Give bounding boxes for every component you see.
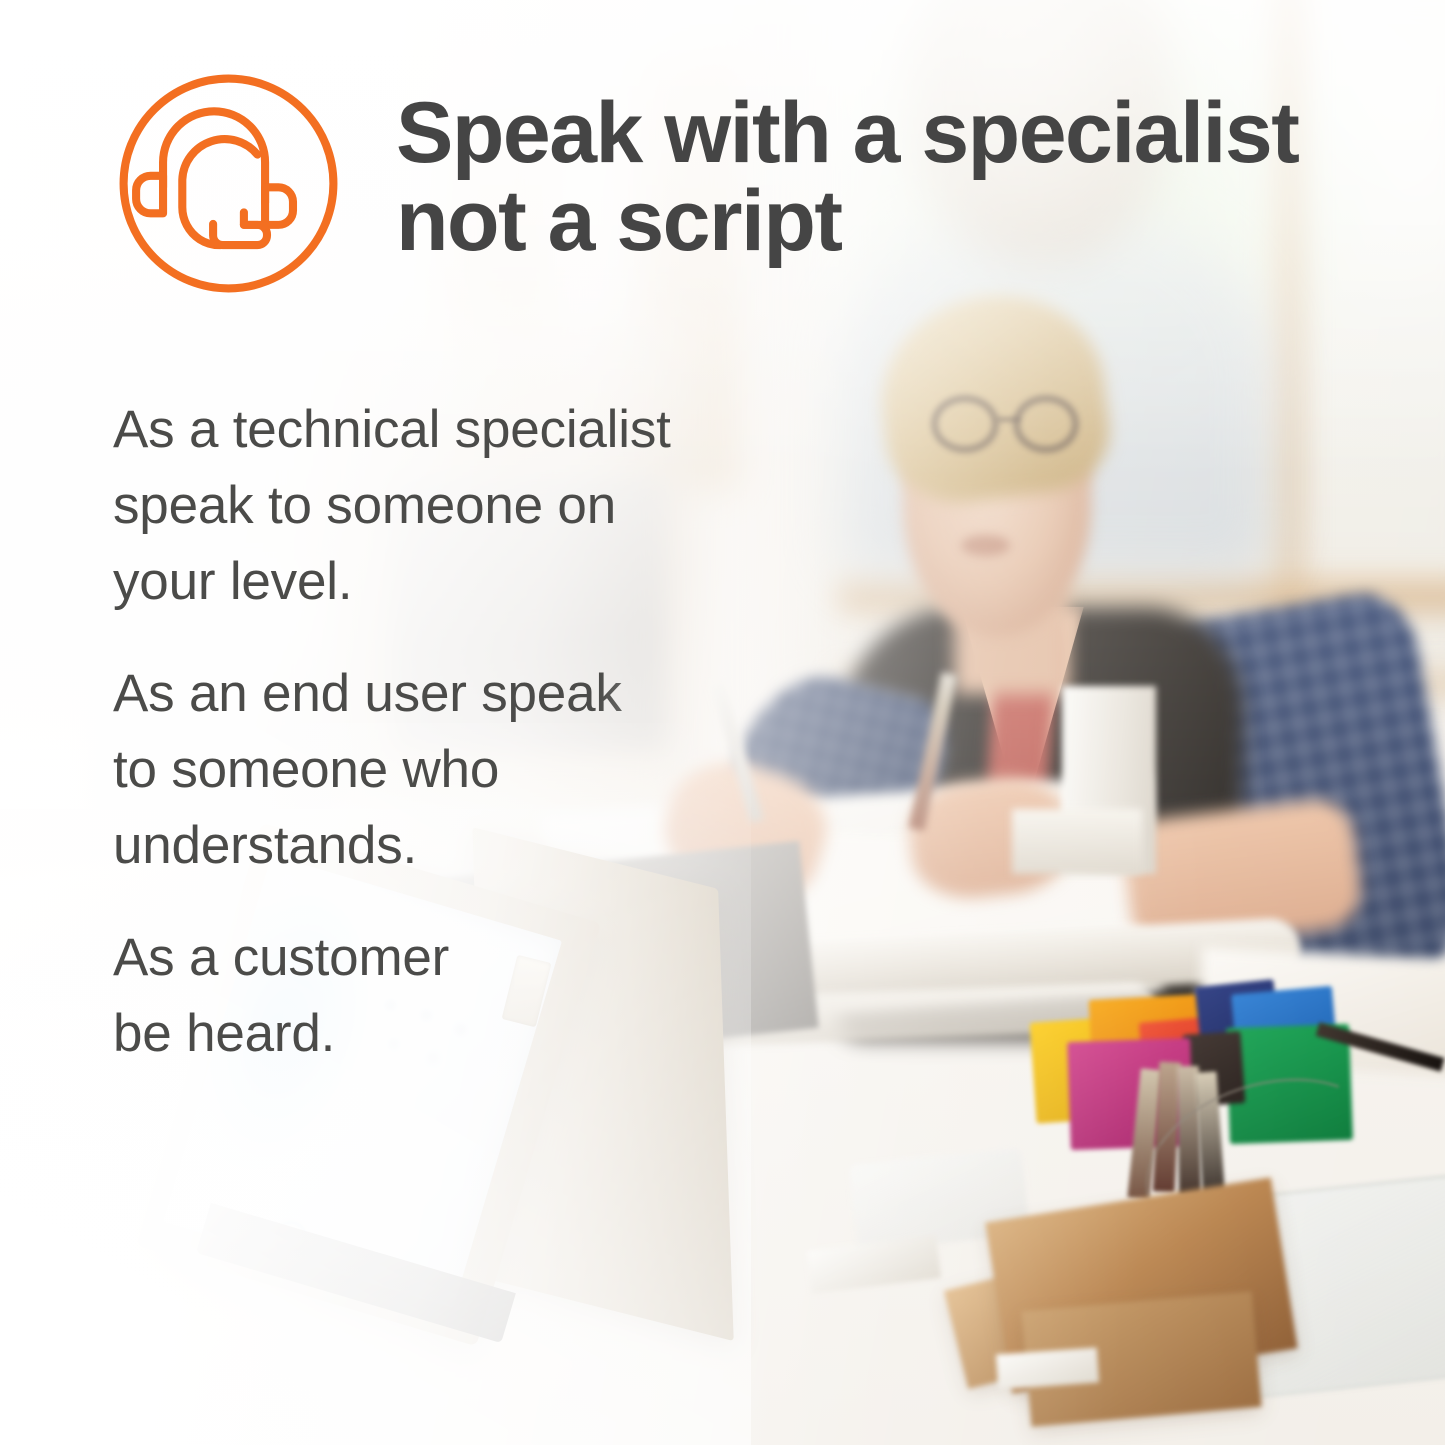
headset-support-icon: [113, 68, 344, 299]
body-paragraph-2: As an end user speak to someone who unde…: [113, 656, 753, 884]
body-copy: As a technical specialist speak to someo…: [113, 392, 753, 1072]
poster-content: Speak with a specialist not a script As …: [0, 0, 1445, 1445]
poster-canvas: Speak with a specialist not a script As …: [0, 0, 1445, 1445]
body-paragraph-3: As a customer be heard.: [113, 920, 753, 1072]
body-paragraph-1: As a technical specialist speak to someo…: [113, 392, 753, 620]
page-title: Speak with a specialist not a script: [396, 68, 1298, 265]
poster-header: Speak with a specialist not a script: [113, 68, 1298, 299]
